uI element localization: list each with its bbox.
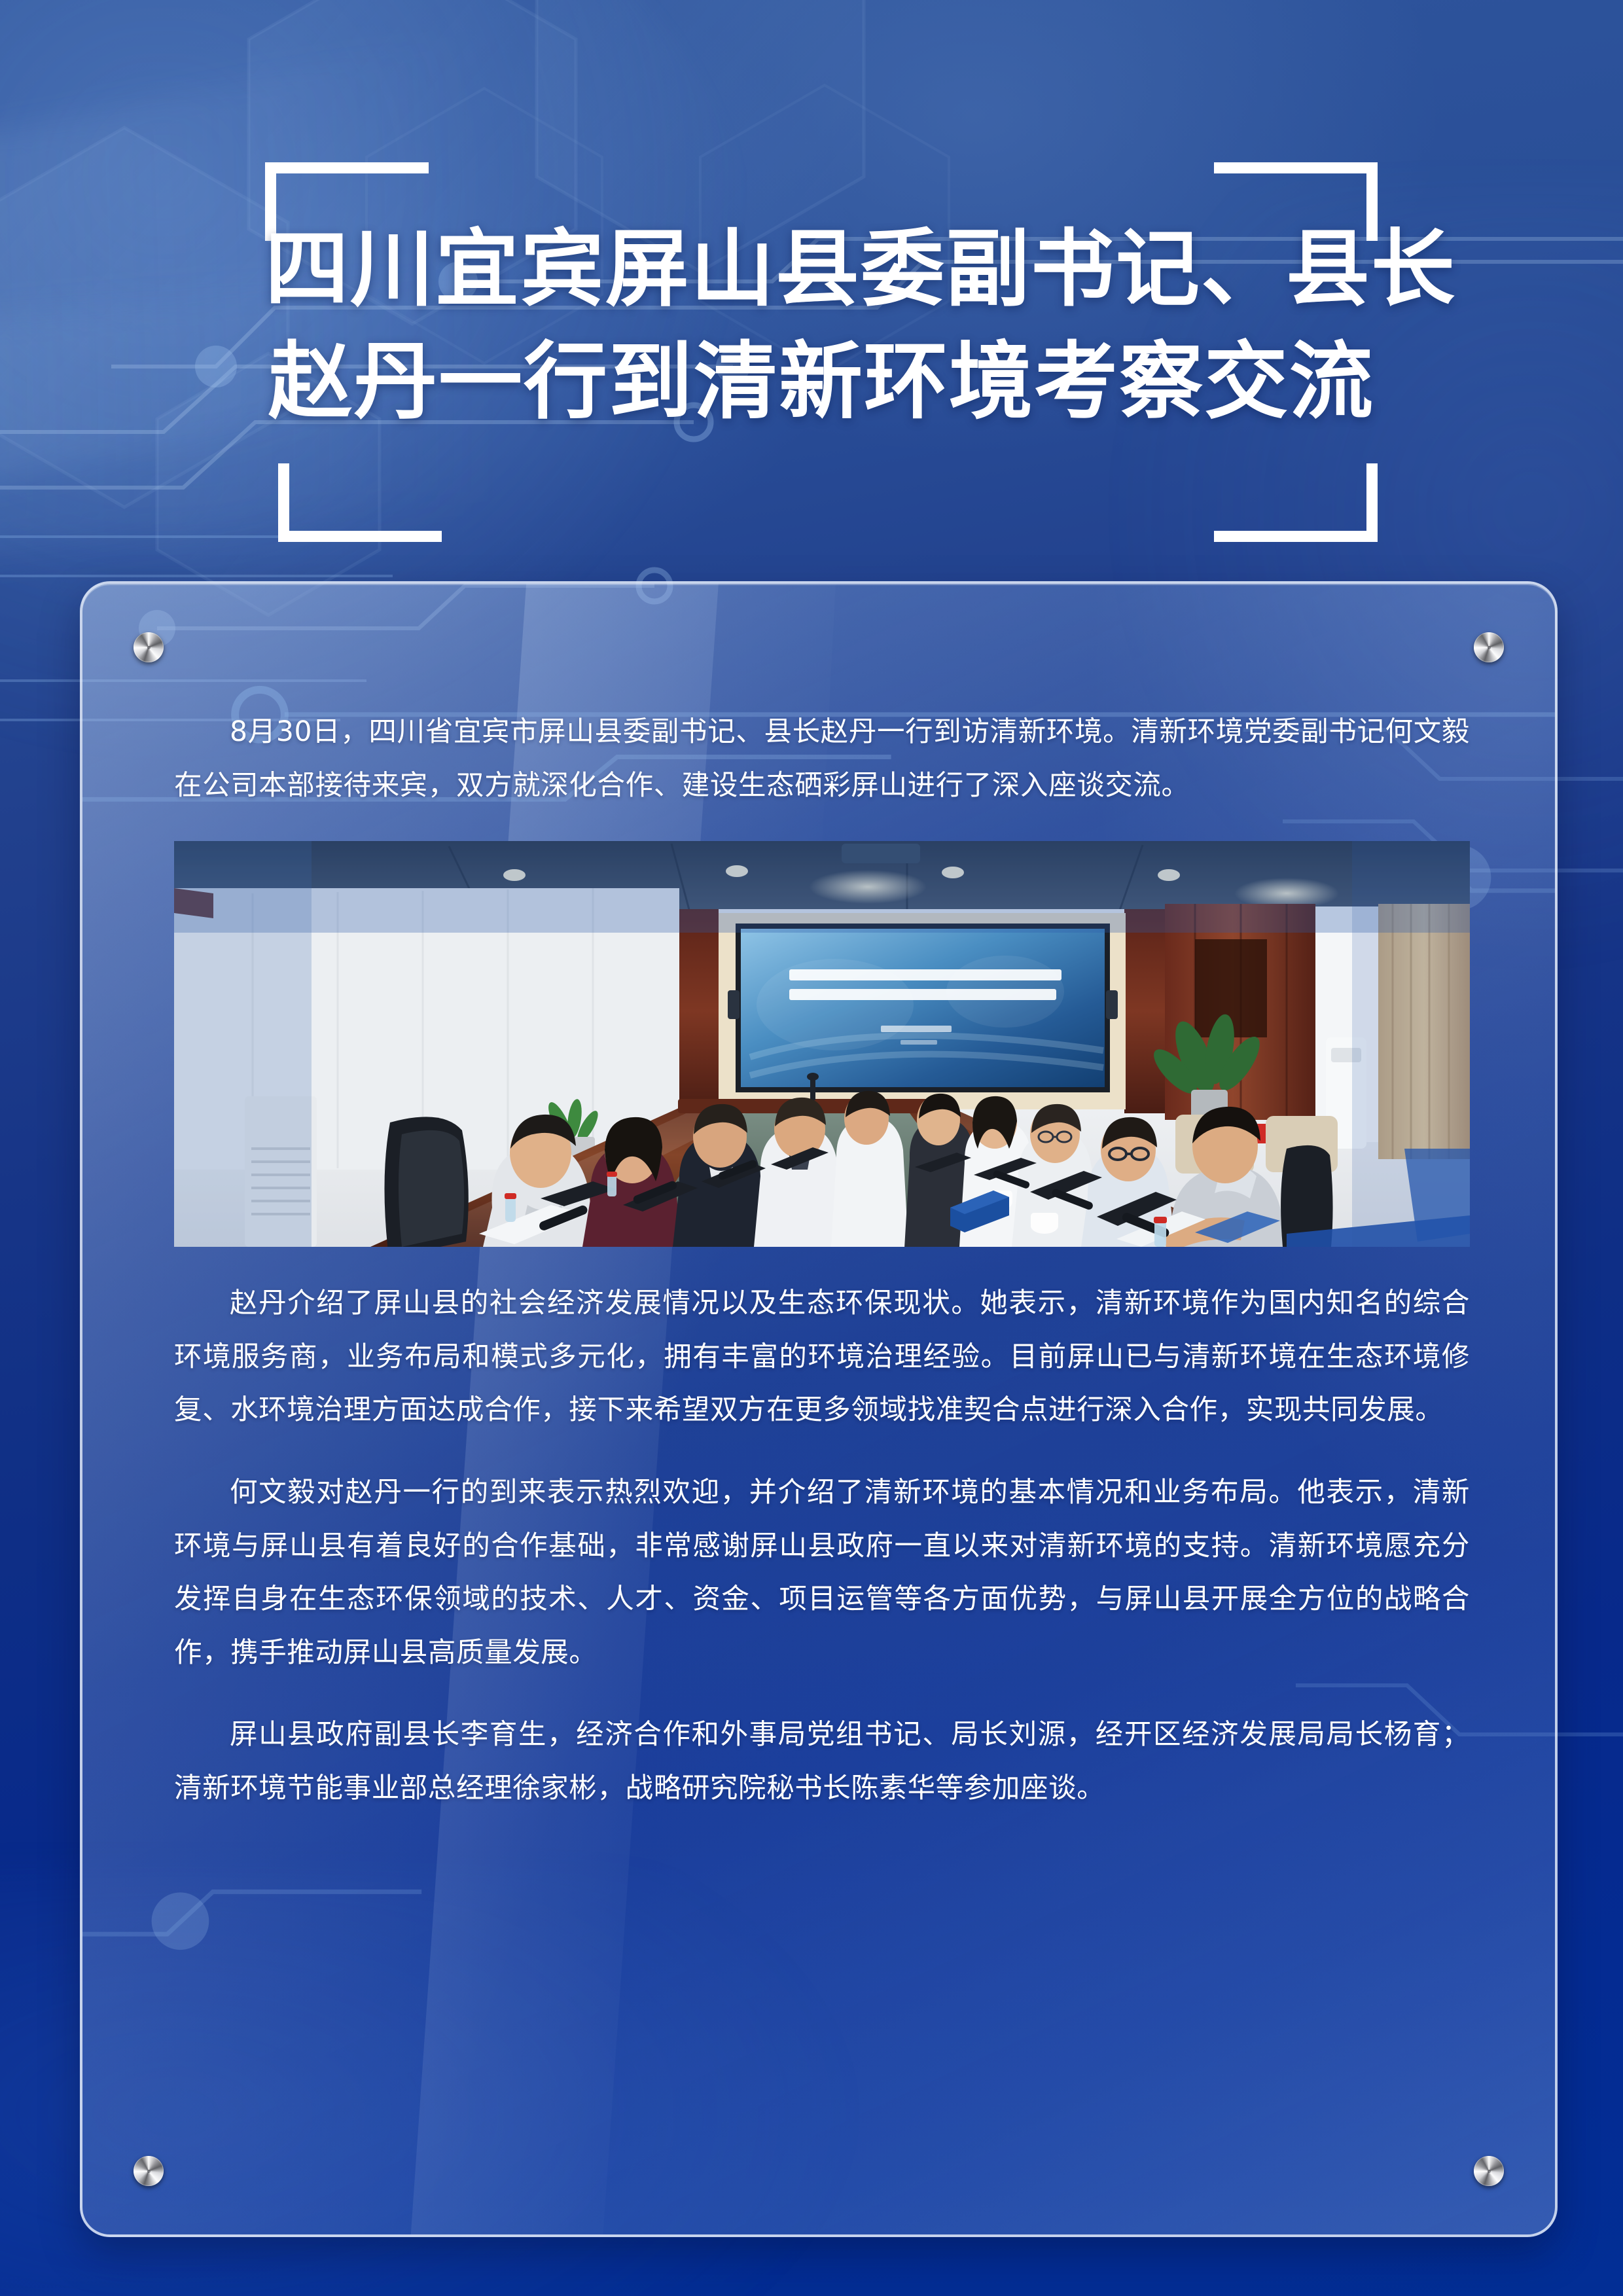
bracket-bottom-right-decoration bbox=[1214, 463, 1378, 542]
page-title: 四川宜宾屏山县委副书记、县长 赵丹一行到清新环境考察交流 bbox=[265, 213, 1378, 438]
article-paragraph-1: 8月30日，四川省宜宾市屏山县委副书记、县长赵丹一行到访清新环境。清新环境党委副… bbox=[174, 706, 1470, 812]
screw-top-right bbox=[1474, 632, 1504, 662]
screw-bottom-right bbox=[1474, 2156, 1504, 2186]
article-paragraph-2: 赵丹介绍了屏山县的社会经济发展情况以及生态环保现状。她表示，清新环境作为国内知名… bbox=[174, 1277, 1470, 1437]
screw-top-left bbox=[134, 632, 164, 662]
meeting-room-photo bbox=[174, 841, 1470, 1247]
page-title-line-1: 四川宜宾屏山县委副书记、县长 bbox=[265, 213, 1378, 326]
poster-root: 四川宜宾屏山县委副书记、县长 赵丹一行到清新环境考察交流 bbox=[0, 0, 1623, 2296]
screw-bottom-left bbox=[134, 2156, 164, 2186]
title-block: 四川宜宾屏山县委副书记、县长 赵丹一行到清新环境考察交流 bbox=[265, 162, 1378, 542]
bracket-bottom-left-decoration bbox=[278, 463, 442, 542]
article-photo bbox=[174, 841, 1470, 1247]
article-paragraph-3: 何文毅对赵丹一行的到来表示热烈欢迎，并介绍了清新环境的基本情况和业务布局。他表示… bbox=[174, 1466, 1470, 1679]
page-title-line-2: 赵丹一行到清新环境考察交流 bbox=[265, 326, 1378, 439]
content-card: 8月30日，四川省宜宾市屏山县委副书记、县长赵丹一行到访清新环境。清新环境党委副… bbox=[80, 581, 1558, 2237]
meeting-room-photo-graphic bbox=[174, 841, 1470, 1247]
article-paragraph-4: 屏山县政府副县长李育生，经济合作和外事局党组书记、局长刘源，经开区经济发展局局长… bbox=[174, 1708, 1470, 1815]
article-body: 8月30日，四川省宜宾市屏山县委副书记、县长赵丹一行到访清新环境。清新环境党委副… bbox=[174, 706, 1470, 1816]
